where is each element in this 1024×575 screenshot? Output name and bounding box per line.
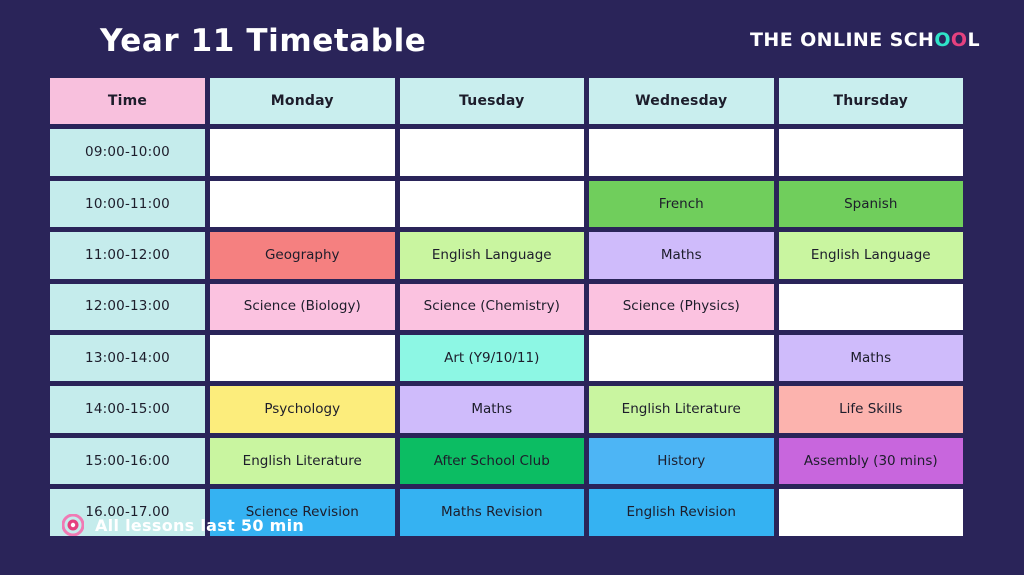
logo-text-part1: THE ONLINE SCH xyxy=(750,29,934,51)
brand-logo: THE ONLINE SCHOOL xyxy=(750,29,980,50)
empty-cell[interactable] xyxy=(779,489,964,535)
empty-cell[interactable] xyxy=(210,181,395,227)
time-slot: 15:00-16:00 xyxy=(50,438,205,484)
lesson-cell[interactable]: Maths xyxy=(400,386,585,432)
time-slot: 09:00-10:00 xyxy=(50,129,205,175)
column-header-time: Time xyxy=(50,78,205,124)
lesson-cell[interactable]: English Language xyxy=(779,232,964,278)
time-slot: 14:00-15:00 xyxy=(50,386,205,432)
target-icon xyxy=(62,514,84,536)
lesson-cell[interactable]: Science (Physics) xyxy=(589,284,774,330)
empty-cell[interactable] xyxy=(210,129,395,175)
lesson-cell[interactable]: Maths xyxy=(779,335,964,381)
time-slot: 13:00-14:00 xyxy=(50,335,205,381)
lesson-cell[interactable]: Maths xyxy=(589,232,774,278)
column-header-thursday: Thursday xyxy=(779,78,964,124)
timetable-grid: TimeMondayTuesdayWednesdayThursday09:00-… xyxy=(50,78,963,536)
lesson-cell[interactable]: Spanish xyxy=(779,181,964,227)
timetable-page: Year 11 Timetable THE ONLINE SCHOOL Time… xyxy=(0,0,1024,575)
column-header-monday: Monday xyxy=(210,78,395,124)
logo-o-teal: O xyxy=(934,29,951,51)
lesson-cell[interactable]: Psychology xyxy=(210,386,395,432)
lesson-cell[interactable]: English Revision xyxy=(589,489,774,535)
lesson-cell[interactable]: French xyxy=(589,181,774,227)
lesson-cell[interactable]: Art (Y9/10/11) xyxy=(400,335,585,381)
empty-cell[interactable] xyxy=(589,335,774,381)
lesson-cell[interactable]: Geography xyxy=(210,232,395,278)
page-title: Year 11 Timetable xyxy=(100,22,426,57)
time-slot: 12:00-13:00 xyxy=(50,284,205,330)
page-header: Year 11 Timetable THE ONLINE SCHOOL xyxy=(0,0,1024,78)
lesson-cell[interactable]: Assembly (30 mins) xyxy=(779,438,964,484)
column-header-wednesday: Wednesday xyxy=(589,78,774,124)
lesson-cell[interactable]: English Literature xyxy=(210,438,395,484)
empty-cell[interactable] xyxy=(400,181,585,227)
lesson-cell[interactable]: English Literature xyxy=(589,386,774,432)
time-slot: 11:00-12:00 xyxy=(50,232,205,278)
lesson-cell[interactable]: Maths Revision xyxy=(400,489,585,535)
lesson-cell[interactable]: Life Skills xyxy=(779,386,964,432)
lesson-cell[interactable]: Science (Biology) xyxy=(210,284,395,330)
footer-note-text: All lessons last 50 min xyxy=(95,516,304,535)
logo-text-part2: L xyxy=(967,29,980,51)
footer-note: All lessons last 50 min xyxy=(62,514,304,536)
empty-cell[interactable] xyxy=(210,335,395,381)
logo-o-pink: O xyxy=(951,29,968,51)
empty-cell[interactable] xyxy=(400,129,585,175)
empty-cell[interactable] xyxy=(589,129,774,175)
lesson-cell[interactable]: History xyxy=(589,438,774,484)
lesson-cell[interactable]: English Language xyxy=(400,232,585,278)
lesson-cell[interactable]: After School Club xyxy=(400,438,585,484)
time-slot: 10:00-11:00 xyxy=(50,181,205,227)
column-header-tuesday: Tuesday xyxy=(400,78,585,124)
lesson-cell[interactable]: Science (Chemistry) xyxy=(400,284,585,330)
empty-cell[interactable] xyxy=(779,129,964,175)
empty-cell[interactable] xyxy=(779,284,964,330)
